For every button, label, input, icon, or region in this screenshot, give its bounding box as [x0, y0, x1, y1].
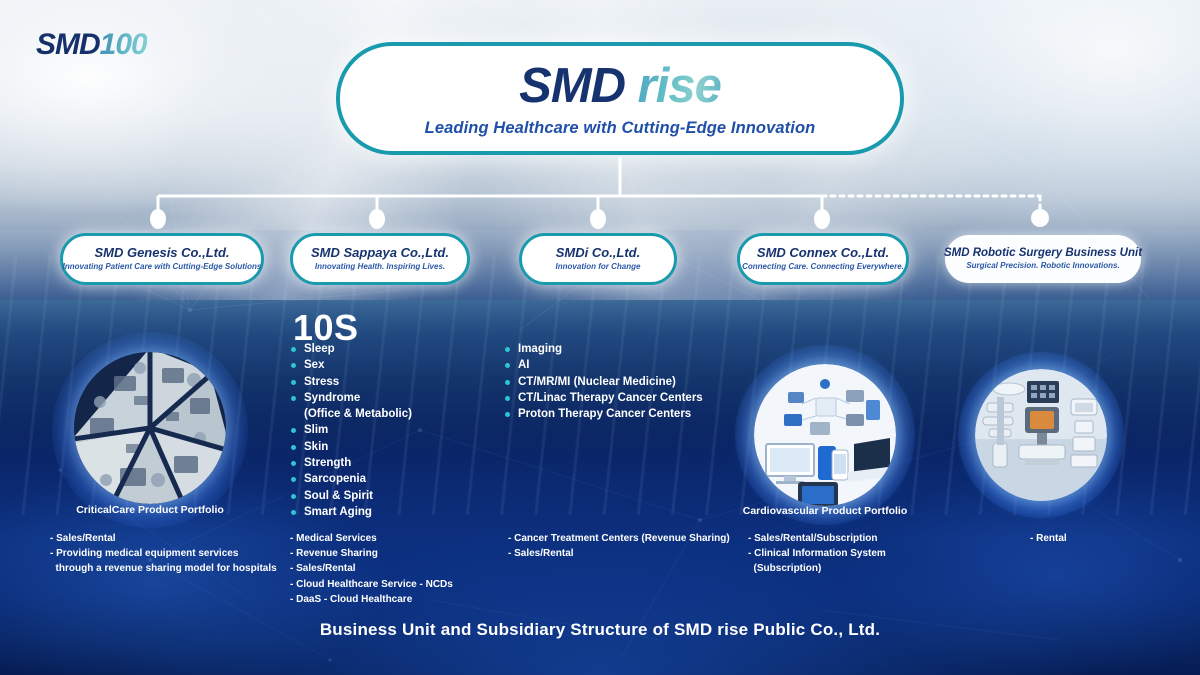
list-item: - Rental [1030, 531, 1067, 546]
smdi-detail-list: - Cancer Treatment Centers (Revenue Shar… [508, 531, 730, 561]
list-item: Proton Therapy Cancer Centers [504, 406, 703, 422]
bullet-icon [505, 412, 510, 417]
bullet-icon [291, 494, 296, 499]
unit-card-connex[interactable]: SMD Connex Co.,Ltd. Connecting Care. Con… [737, 233, 909, 285]
list-item: Slim [290, 422, 412, 438]
list-item: Stress [290, 374, 412, 390]
list-item: (Subscription) [748, 561, 886, 576]
bullet-icon [291, 396, 296, 401]
list-item: Soul & Spirit [290, 488, 412, 504]
list-item: - Sales/Rental [50, 531, 277, 546]
footer-caption: Business Unit and Subsidiary Structure o… [0, 620, 1200, 640]
unit-card-smdi[interactable]: SMDi Co.,Ltd. Innovation for Change [519, 233, 677, 285]
criticalcare-product-collage [74, 352, 226, 504]
list-item: AI [504, 357, 703, 373]
list-item: Sleep [290, 341, 412, 357]
list-item: Sarcopenia [290, 471, 412, 487]
unit-name-sappaya: SMD Sappaya Co.,Ltd. [311, 246, 449, 260]
bullet-icon [291, 347, 296, 352]
sappaya-detail-list: - Medical Services - Revenue Sharing - S… [290, 531, 453, 607]
unit-tagline-robotic-surgery: Surgical Precision. Robotic Innovations. [966, 262, 1119, 271]
bullet-icon [505, 363, 510, 368]
list-item: - Providing medical equipment services [50, 546, 277, 561]
list-item: Strength [290, 455, 412, 471]
bullet-icon [505, 347, 510, 352]
list-item: - Sales/Rental [290, 561, 453, 576]
unit-tagline-genesis: Innovating Patient Care with Cutting-Edg… [63, 263, 262, 272]
bullet-icon [505, 380, 510, 385]
unit-card-sappaya[interactable]: SMD Sappaya Co.,Ltd. Innovating Health. … [290, 233, 470, 285]
bullet-icon [291, 363, 296, 368]
list-item: Smart Aging [290, 504, 412, 520]
list-item: CT/MR/MI (Nuclear Medicine) [504, 374, 703, 390]
list-item: Imaging [504, 341, 703, 357]
list-item: Syndrome [290, 390, 412, 406]
unit-tagline-smdi: Innovation for Change [556, 263, 641, 272]
robotic-detail-list: - Rental [1030, 531, 1067, 546]
unit-tagline-connex: Connecting Care. Connecting Everywhere. [742, 263, 904, 272]
genesis-circle-caption: CriticalCare Product Portfolio [22, 504, 278, 516]
connex-circle-caption: Cardiovascular Product Portfolio [705, 505, 945, 517]
bullet-icon [291, 445, 296, 450]
unit-name-robotic-surgery: SMD Robotic Surgery Business Unit [944, 247, 1142, 260]
genesis-detail-list: - Sales/Rental - Providing medical equip… [50, 531, 277, 577]
unit-tagline-sappaya: Innovating Health. Inspiring Lives. [315, 263, 445, 272]
bullet-icon [291, 380, 296, 385]
list-item: Skin [290, 439, 412, 455]
list-item: - Revenue Sharing [290, 546, 453, 561]
bullet-icon [291, 461, 296, 466]
list-item: - Clinical Information System [748, 546, 886, 561]
list-item: - Cancer Treatment Centers (Revenue Shar… [508, 531, 730, 546]
cardiovascular-product-collage [754, 364, 896, 506]
sappaya-10s-list: Sleep Sex Stress Syndrome (Office & Meta… [290, 341, 412, 520]
list-item: - Sales/Rental/Subscription [748, 531, 886, 546]
bullet-icon [291, 510, 296, 515]
infographic-slide: SMD100 SMD rise Leading Healthcare with … [0, 0, 1200, 675]
list-item: - DaaS - Cloud Healthcare [290, 592, 453, 607]
robotic-surgery-equipment-image [975, 369, 1107, 501]
list-item: Sex [290, 357, 412, 373]
smdi-service-list: Imaging AI CT/MR/MI (Nuclear Medicine) C… [504, 341, 703, 422]
list-item: - Cloud Healthcare Service - NCDs [290, 577, 453, 592]
unit-card-genesis[interactable]: SMD Genesis Co.,Ltd. Innovating Patient … [60, 233, 264, 285]
list-item: CT/Linac Therapy Cancer Centers [504, 390, 703, 406]
bullet-icon [505, 396, 510, 401]
list-item: through a revenue sharing model for hosp… [50, 561, 277, 576]
list-item: - Sales/Rental [508, 546, 730, 561]
unit-card-robotic-surgery[interactable]: SMD Robotic Surgery Business Unit Surgic… [945, 235, 1141, 283]
unit-name-genesis: SMD Genesis Co.,Ltd. [94, 246, 229, 260]
bullet-icon [291, 477, 296, 482]
bullet-icon [291, 428, 296, 433]
list-item: (Office & Metabolic) [290, 406, 412, 422]
connex-detail-list: - Sales/Rental/Subscription - Clinical I… [748, 531, 886, 577]
list-item: - Medical Services [290, 531, 453, 546]
unit-name-connex: SMD Connex Co.,Ltd. [757, 246, 889, 260]
unit-name-smdi: SMDi Co.,Ltd. [556, 246, 641, 260]
